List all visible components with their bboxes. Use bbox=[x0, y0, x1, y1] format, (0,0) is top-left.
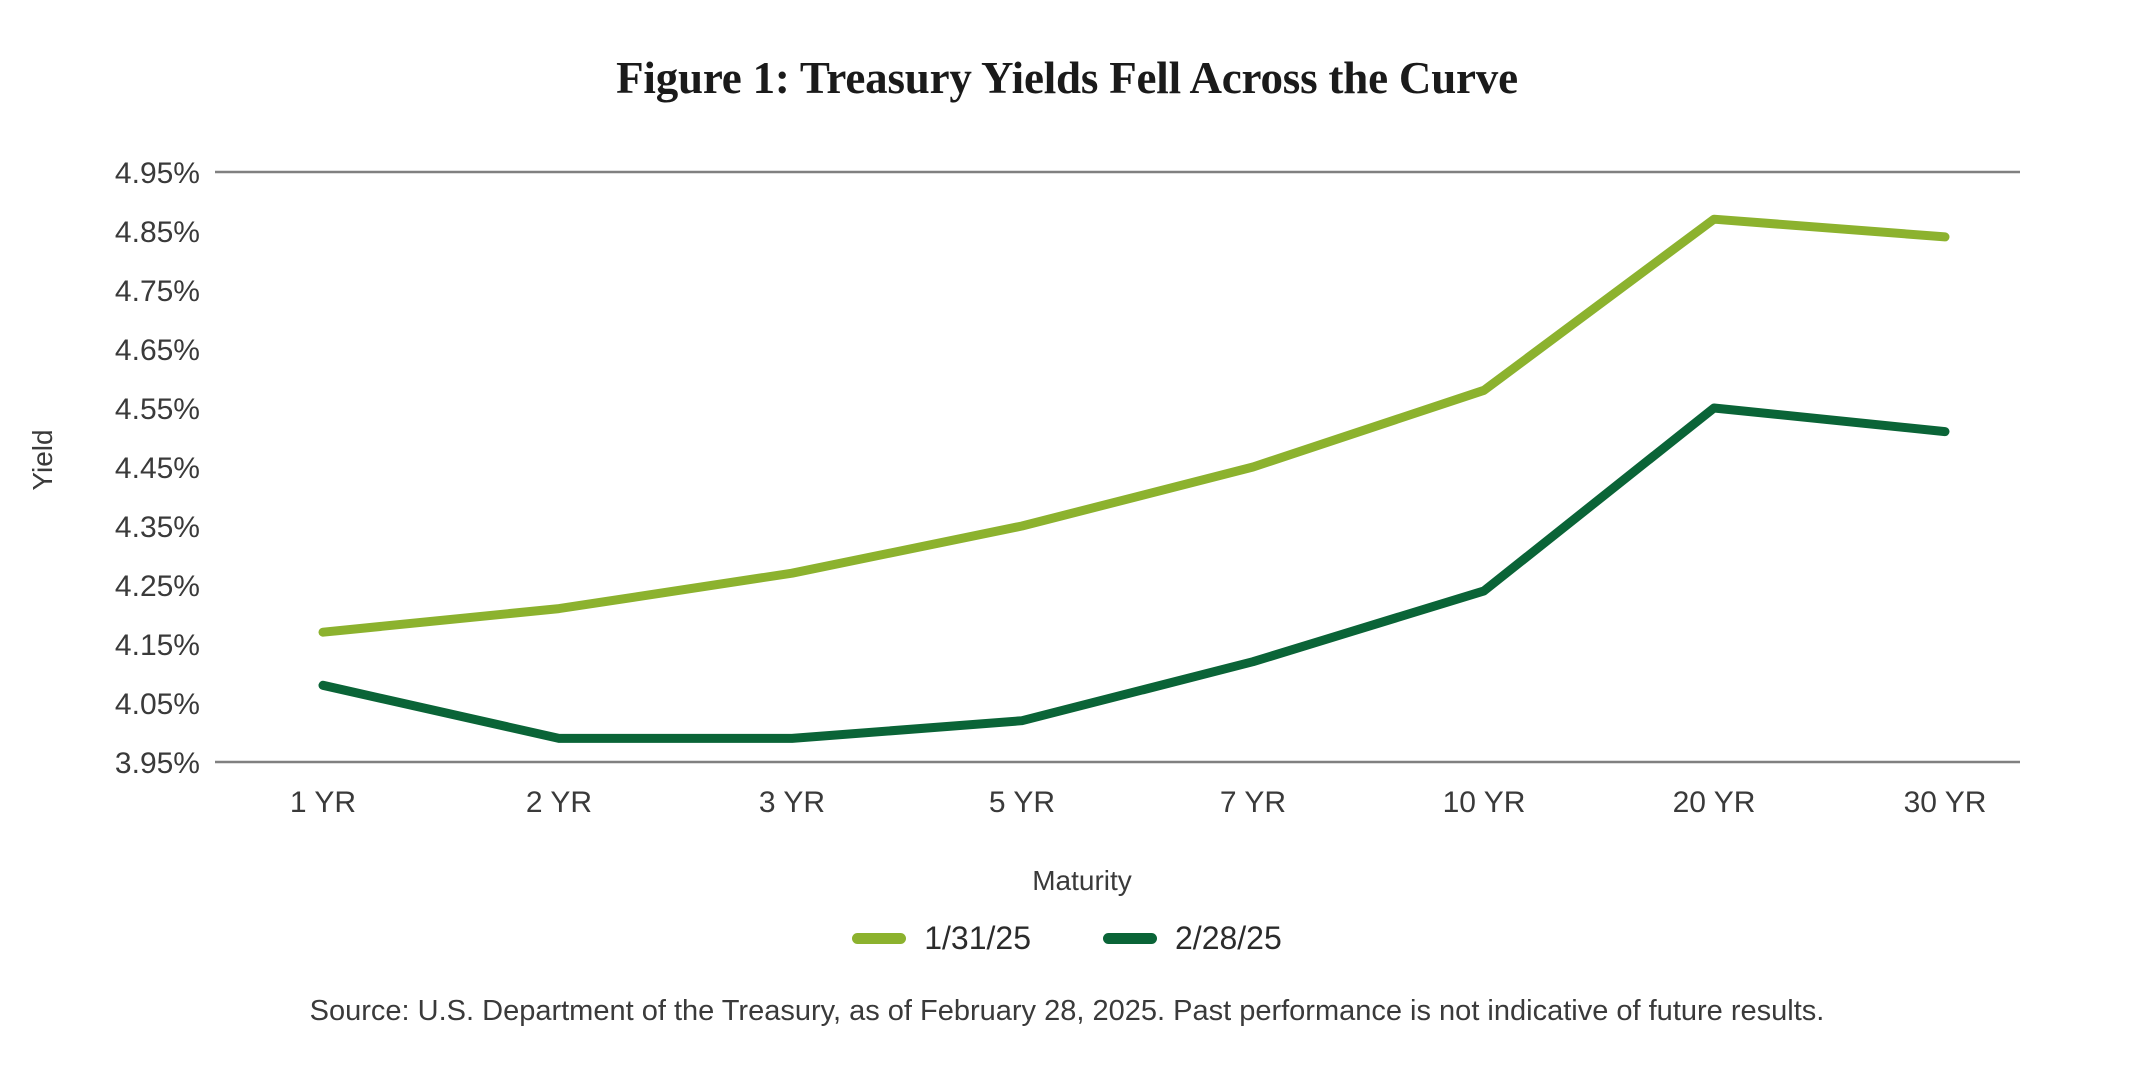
x-tick-label: 20 YR bbox=[1673, 786, 1756, 819]
y-tick-label: 3.95% bbox=[115, 747, 200, 780]
x-axis-title: Maturity bbox=[1032, 865, 1132, 896]
legend-swatch-icon bbox=[1103, 933, 1157, 944]
y-tick-label: 4.35% bbox=[115, 511, 200, 544]
y-tick-label: 4.45% bbox=[115, 452, 200, 485]
y-tick-label: 4.95% bbox=[115, 157, 200, 190]
legend-item-label: 1/31/25 bbox=[924, 920, 1031, 957]
line-chart-plot: 4.95% 4.85% 4.75% 4.65% 4.55% 4.45% 4.35… bbox=[0, 0, 2134, 900]
x-tick-label: 10 YR bbox=[1443, 786, 1526, 819]
series-line-2-28-25 bbox=[323, 408, 1945, 738]
figure-treasury-yield-curve: Figure 1: Treasury Yields Fell Across th… bbox=[0, 0, 2134, 1067]
x-tick-label: 7 YR bbox=[1220, 786, 1286, 819]
x-tick-label: 5 YR bbox=[989, 786, 1055, 819]
x-axis-tick-labels: 1 YR 2 YR 3 YR 5 YR 7 YR 10 YR 20 YR 30 … bbox=[290, 786, 1987, 819]
y-tick-label: 4.55% bbox=[115, 393, 200, 426]
y-axis-tick-labels: 4.95% 4.85% 4.75% 4.65% 4.55% 4.45% 4.35… bbox=[115, 157, 200, 780]
y-tick-label: 4.75% bbox=[115, 275, 200, 308]
chart-legend: 1/31/25 2/28/25 bbox=[0, 920, 2134, 957]
legend-item-label: 2/28/25 bbox=[1175, 920, 1282, 957]
x-tick-label: 2 YR bbox=[526, 786, 592, 819]
legend-item-2-28-25[interactable]: 2/28/25 bbox=[1103, 920, 1282, 957]
legend-swatch-icon bbox=[852, 933, 906, 944]
x-tick-label: 1 YR bbox=[290, 786, 356, 819]
legend-item-1-31-25[interactable]: 1/31/25 bbox=[852, 920, 1031, 957]
y-tick-label: 4.15% bbox=[115, 629, 200, 662]
y-tick-label: 4.05% bbox=[115, 688, 200, 721]
y-tick-label: 4.65% bbox=[115, 334, 200, 367]
x-tick-label: 3 YR bbox=[759, 786, 825, 819]
y-axis-title: Yield bbox=[27, 429, 58, 490]
series-line-1-31-25 bbox=[323, 219, 1945, 632]
source-note: Source: U.S. Department of the Treasury,… bbox=[0, 995, 2134, 1028]
y-tick-label: 4.85% bbox=[115, 216, 200, 249]
x-tick-label: 30 YR bbox=[1904, 786, 1987, 819]
y-tick-label: 4.25% bbox=[115, 570, 200, 603]
